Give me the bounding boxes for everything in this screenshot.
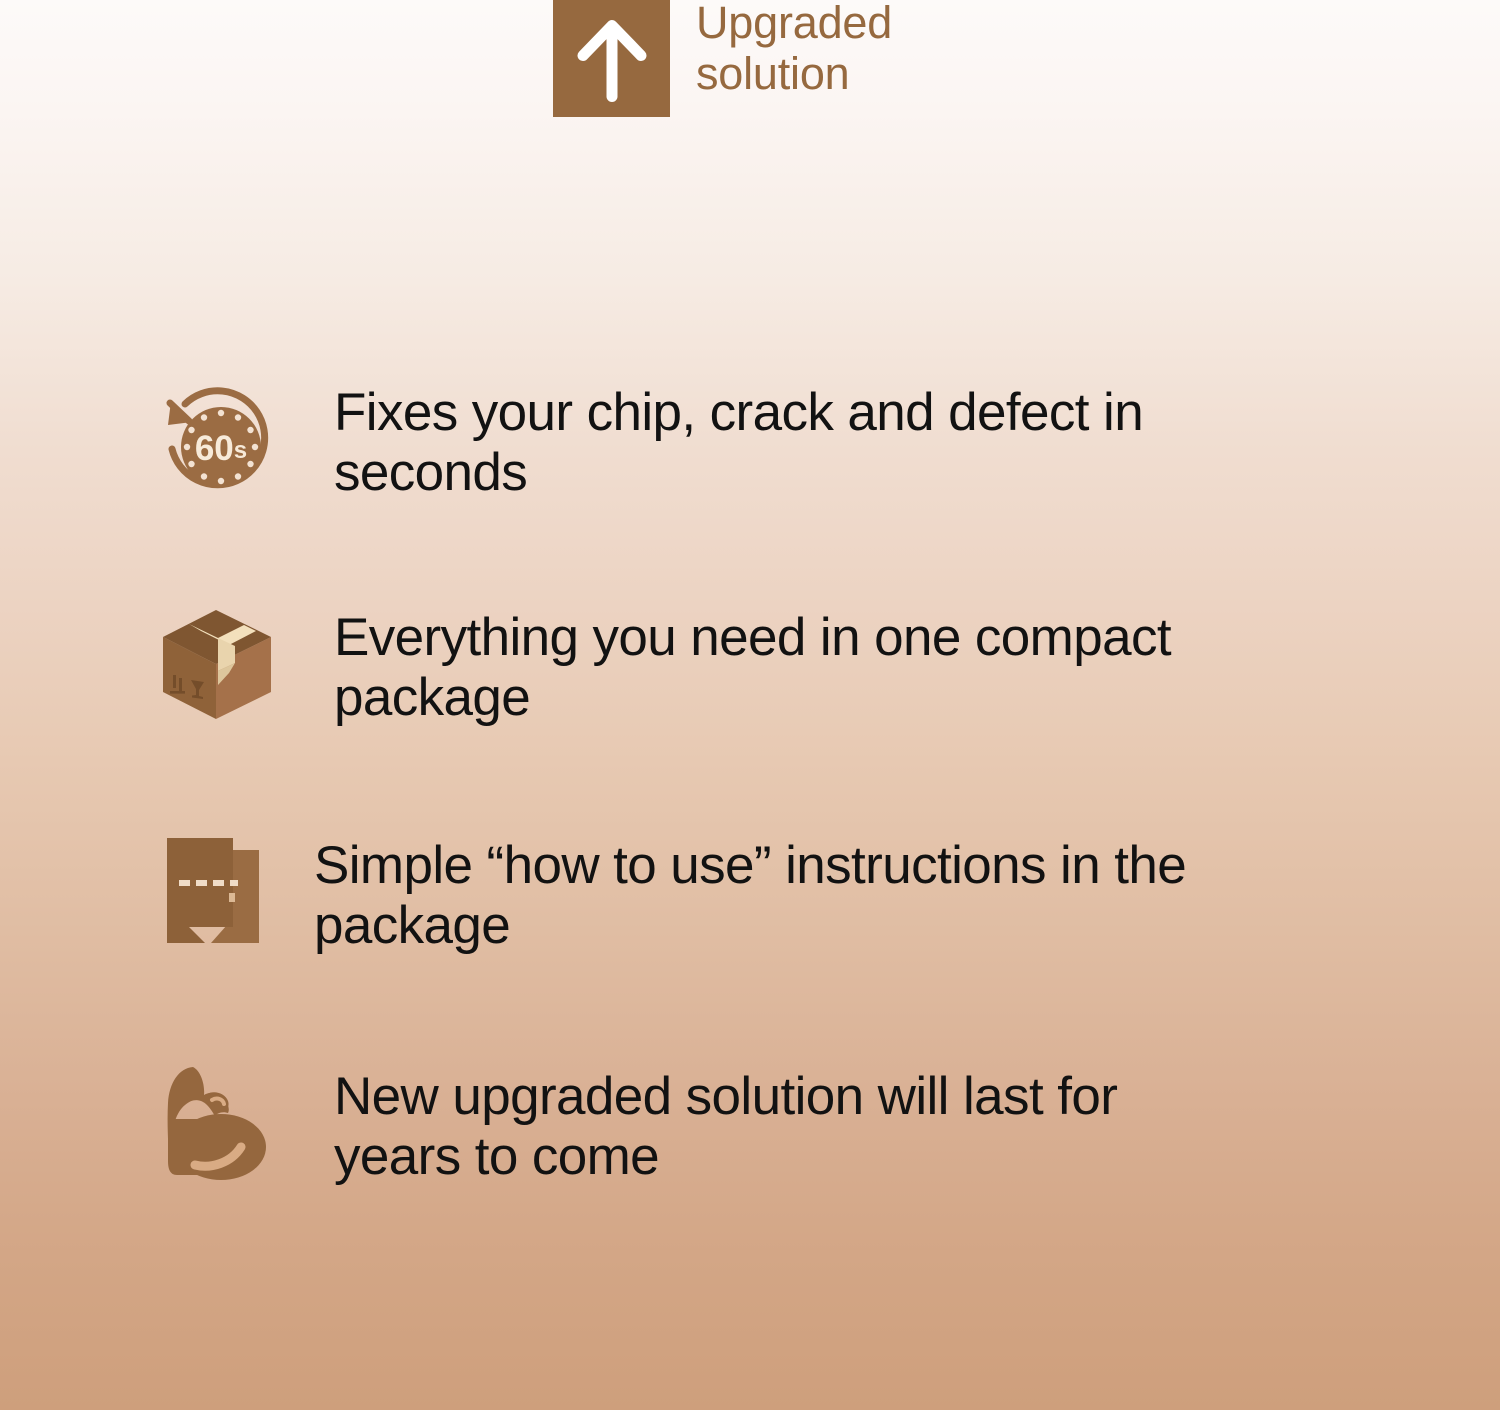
header-title: Upgraded solution	[696, 0, 892, 99]
list-item-label: New upgraded solution will last for year…	[334, 1067, 1117, 1187]
list-item-label: Fixes your chip, crack and defect in sec…	[334, 383, 1143, 503]
instructions-sheet-icon	[155, 829, 280, 954]
package-box-icon	[155, 601, 280, 726]
flexed-bicep-icon	[155, 1061, 280, 1186]
feature-list: 60s Fixes your chip, crack and defect in…	[0, 355, 1500, 1267]
list-item: Everything you need in one compact packa…	[0, 583, 1500, 811]
stopwatch-60s-icon: 60s	[155, 381, 280, 506]
up-arrow-icon	[553, 0, 670, 117]
promo-feature-panel: Upgraded solution	[0, 0, 1500, 1410]
list-item: Simple “how to use” instructions in the …	[0, 811, 1500, 1039]
list-item-label: Simple “how to use” instructions in the …	[314, 836, 1186, 956]
list-item-label: Everything you need in one compact packa…	[334, 608, 1171, 728]
list-item: New upgraded solution will last for year…	[0, 1039, 1500, 1267]
list-item: 60s Fixes your chip, crack and defect in…	[0, 355, 1500, 583]
header: Upgraded solution	[553, 0, 892, 117]
